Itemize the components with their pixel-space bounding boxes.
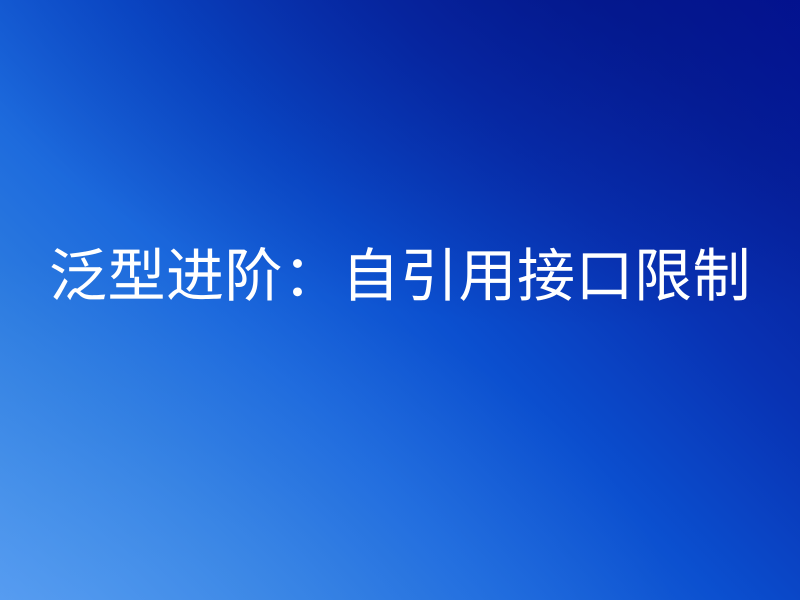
cover-slide: 泛型进阶：自引用接口限制: [0, 0, 800, 600]
title-container: 泛型进阶：自引用接口限制: [0, 0, 800, 600]
page-title: 泛型进阶：自引用接口限制: [49, 247, 751, 308]
